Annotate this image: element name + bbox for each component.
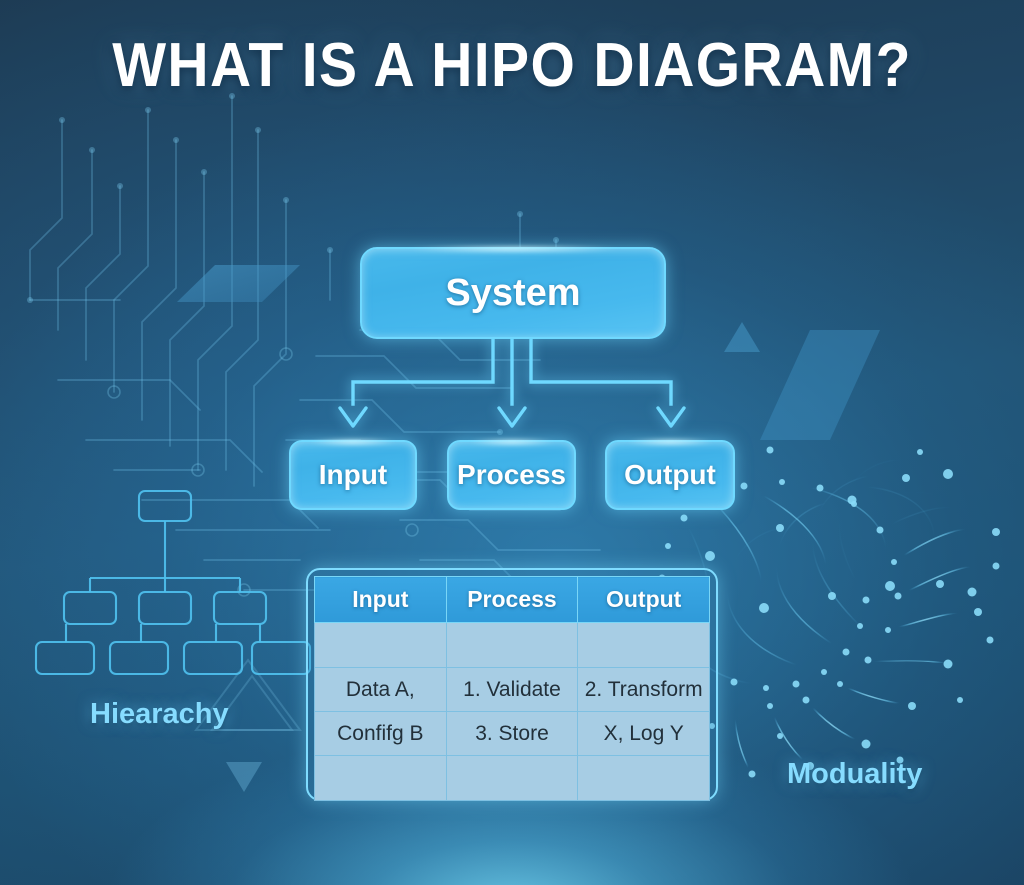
table-cell <box>578 756 710 801</box>
table-cell: 1. Validate <box>446 668 578 712</box>
parallelogram-left-shape <box>177 265 300 302</box>
hierarchy-tree-icon <box>36 491 310 674</box>
table-header-output: Output <box>578 577 710 623</box>
triangle-right-shape <box>724 322 760 352</box>
parallelogram-right-shape <box>760 330 880 440</box>
table-header-row: Input Process Output <box>315 577 710 623</box>
table-header-process: Process <box>446 577 578 623</box>
page-title: WHAT IS A HIPO DIAGRAM? <box>41 30 983 101</box>
table-row: Data A, 1. Validate 2. Transform <box>315 668 710 712</box>
table-cell: Data A, <box>315 668 447 712</box>
node-process[interactable]: Process <box>447 440 576 510</box>
table-header-input: Input <box>315 577 447 623</box>
hipo-infographic: WHAT IS A HIPO DIAGRAM? System Input Pro… <box>0 0 1024 885</box>
table-cell <box>578 623 710 668</box>
table-cell: 2. Transform <box>578 668 710 712</box>
table-cell <box>315 623 447 668</box>
table-cell <box>315 756 447 801</box>
triangle-down-shape <box>226 762 262 792</box>
node-output[interactable]: Output <box>605 440 735 510</box>
hipo-table: Input Process Output Data A, 1. Validate… <box>314 576 710 801</box>
table-row: Confifg B 3. Store X, Log Y <box>315 712 710 756</box>
table-cell: X, Log Y <box>578 712 710 756</box>
table-cell: Confifg B <box>315 712 447 756</box>
table-cell <box>446 623 578 668</box>
node-input[interactable]: Input <box>289 440 417 510</box>
table-row <box>315 623 710 668</box>
node-system[interactable]: System <box>360 247 666 339</box>
caption-modularity: Moduality <box>787 758 922 791</box>
caption-hierarchy: Hiearachy <box>90 698 229 731</box>
hipo-table-frame: Input Process Output Data A, 1. Validate… <box>306 568 718 801</box>
table-row <box>315 756 710 801</box>
table-cell <box>446 756 578 801</box>
table-cell: 3. Store <box>446 712 578 756</box>
